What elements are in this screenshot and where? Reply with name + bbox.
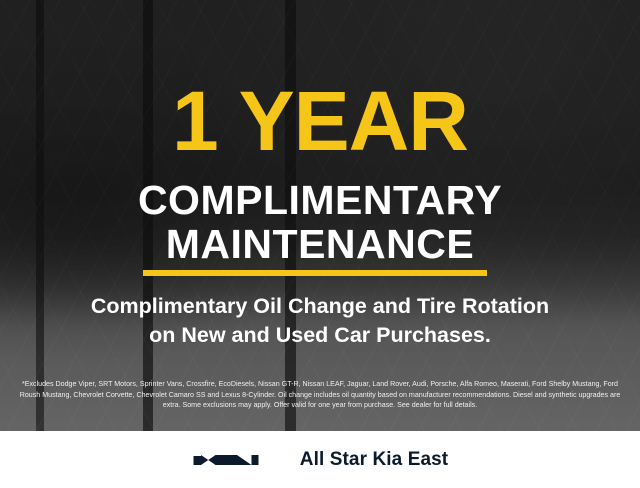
offer-description-line-2: on New and Used Car Purchases.	[0, 322, 640, 348]
headline-year: 1 YEAR	[0, 79, 640, 163]
headline-maintenance: MAINTENANCE	[0, 224, 640, 265]
hero-section: 1 YEAR COMPLIMENTARY MAINTENANCE Complim…	[0, 0, 640, 431]
disclaimer-text: *Excludes Dodge Viper, SRT Motors, Sprin…	[14, 379, 626, 411]
headline-complimentary: COMPLIMENTARY	[0, 180, 640, 221]
offer-description-line-1: Complimentary Oil Change and Tire Rotati…	[0, 293, 640, 319]
dealer-footer-bar: All Star Kia East	[0, 431, 640, 488]
dealer-name-label: All Star Kia East	[300, 449, 448, 471]
maintenance-offer-banner: 1 YEAR COMPLIMENTARY MAINTENANCE Complim…	[0, 0, 640, 488]
yellow-divider-bar	[143, 270, 487, 276]
hero-content: 1 YEAR COMPLIMENTARY MAINTENANCE Complim…	[0, 0, 640, 431]
kia-logo-icon	[192, 448, 278, 472]
